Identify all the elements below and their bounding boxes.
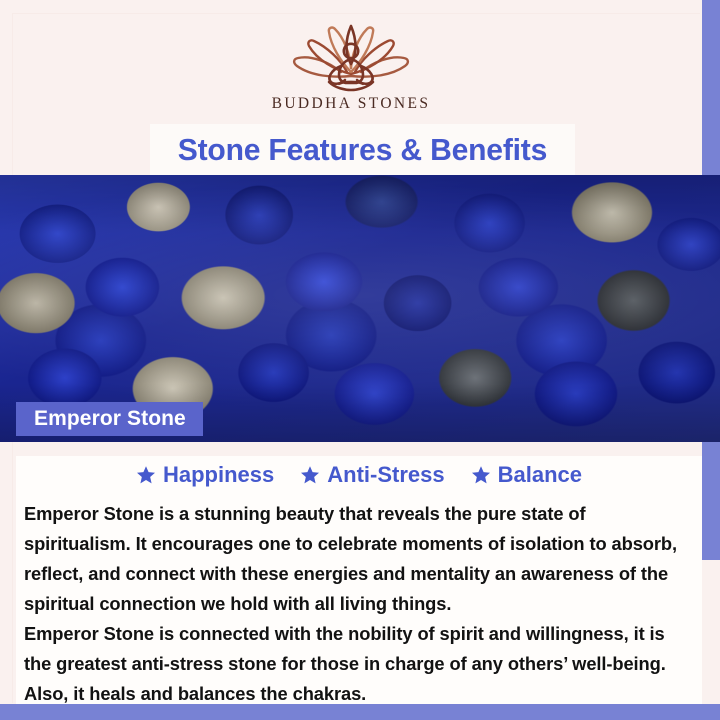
benefit-item-anti-stress: Anti-Stress <box>300 462 444 488</box>
content-top-strip <box>16 442 702 456</box>
description-paragraph-2: Emperor Stone is connected with the nobi… <box>24 619 690 709</box>
benefit-label: Anti-Stress <box>327 462 444 488</box>
star-icon <box>136 465 156 485</box>
stone-name-label: Emperor Stone <box>34 407 186 431</box>
star-icon <box>300 465 320 485</box>
brand-header: BUDDHA STONES <box>0 18 702 113</box>
description-paragraph-1: Emperor Stone is a stunning beauty that … <box>24 499 690 619</box>
benefit-item-balance: Balance <box>471 462 582 488</box>
poster: BUDDHA STONES Stone Features & Benefits … <box>0 0 720 720</box>
benefit-item-happiness: Happiness <box>136 462 274 488</box>
title-banner: Stone Features & Benefits <box>150 124 575 175</box>
benefit-label: Balance <box>498 462 582 488</box>
benefit-label: Happiness <box>163 462 274 488</box>
stone-name-badge: Emperor Stone <box>16 402 203 436</box>
star-icon <box>471 465 491 485</box>
benefits-row: Happiness Anti-Stress Balance <box>16 462 702 488</box>
lotus-meditation-figure-icon <box>271 18 431 92</box>
brand-name: BUDDHA STONES <box>272 95 431 113</box>
page-title: Stone Features & Benefits <box>178 132 547 168</box>
body-copy: Emperor Stone is a stunning beauty that … <box>24 499 700 709</box>
content-panel: Happiness Anti-Stress Balance Emperor St… <box>16 442 702 704</box>
